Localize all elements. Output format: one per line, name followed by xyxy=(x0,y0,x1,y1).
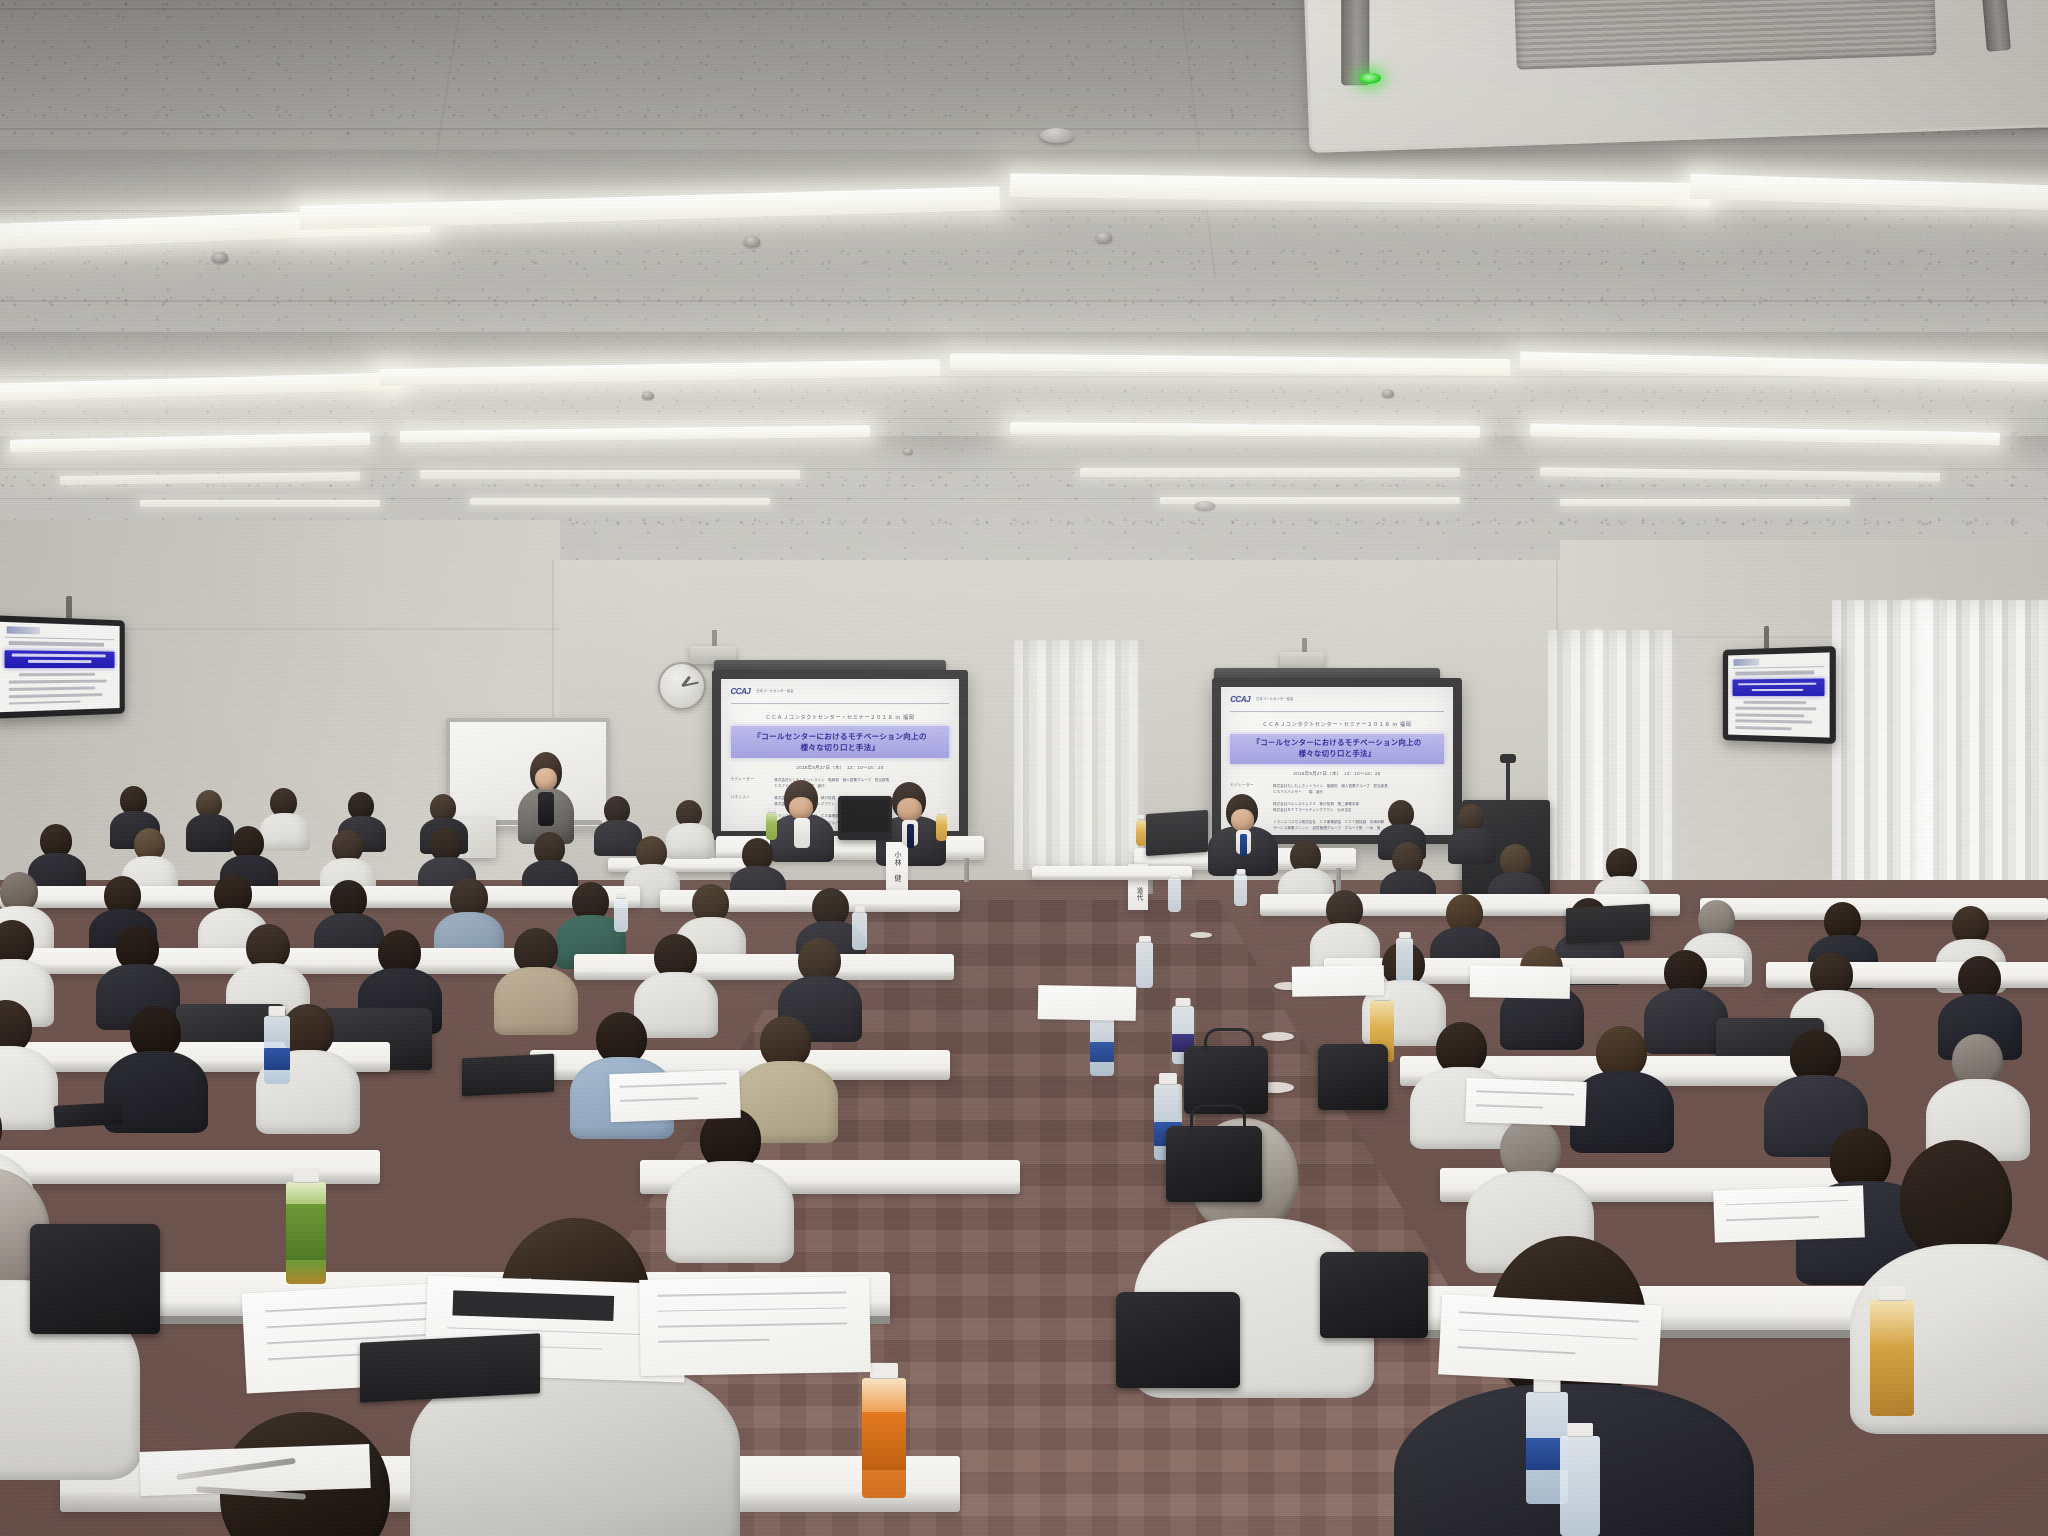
person-face xyxy=(897,798,922,821)
water-bottle xyxy=(852,912,867,950)
mini-slide-title-band xyxy=(5,650,114,668)
wall-clock xyxy=(658,662,706,710)
orange-drink-bottle xyxy=(862,1378,906,1498)
bottle-cap xyxy=(768,807,776,813)
mini-slide-logo xyxy=(6,627,39,635)
mini-slide-row xyxy=(9,686,95,690)
ccaj-logo: CCAJ xyxy=(1230,695,1250,704)
person-torso xyxy=(594,820,642,856)
slide-title: 『コールセンターにおけるモチベーション向上の 様々な切り口と手法』 xyxy=(1230,734,1443,765)
tea-bottle xyxy=(1870,1300,1914,1416)
microphone-head xyxy=(1500,754,1516,763)
left-wall-monitor[interactable] xyxy=(0,615,125,719)
audience-table xyxy=(0,1150,380,1184)
bottle-cap xyxy=(1139,936,1151,943)
mini-slide-row xyxy=(19,673,95,676)
mini-slide-title-line xyxy=(28,660,91,663)
ceiling-light-fixture xyxy=(140,500,380,507)
smartphone xyxy=(53,1102,122,1128)
bag-handle xyxy=(1190,1104,1246,1131)
floor-bag xyxy=(1318,1044,1388,1110)
mini-slide-title-line xyxy=(1738,683,1816,686)
paper-text-line xyxy=(658,1292,847,1297)
slide-subtitle: ＣＣＡＪコンタクトセンター・セミナー２０１８ in 福岡 xyxy=(731,714,950,721)
tea-bottle xyxy=(766,812,777,840)
slide-block-body: 株式会社もしもしホットライン 取締役 個人営業グループ 担当部長 ＣＳアドバイザ… xyxy=(1273,783,1444,796)
slide-title-line-2: 様々な切り口と手法』 xyxy=(734,742,946,753)
handout-paper xyxy=(1713,1185,1865,1242)
paper-text-line xyxy=(1476,1091,1574,1096)
slide-block: モデレーター 株式会社もしもしホットライン 取締役 個人営業グループ 担当部長 … xyxy=(1230,783,1443,796)
handout-paper xyxy=(139,1444,370,1496)
mini-slide xyxy=(0,622,120,712)
floor-marker xyxy=(1190,932,1212,938)
ac-air-vane xyxy=(1979,0,2011,52)
handout-paper xyxy=(639,1276,871,1376)
ccaj-logo-subtext: 日本コールセンター協会 xyxy=(756,690,793,694)
left-wall-monitor-screen xyxy=(0,622,120,712)
audience-table xyxy=(1766,962,2048,988)
slide-block-label: パネリスト xyxy=(731,795,766,800)
presenter-laptop xyxy=(1146,810,1208,856)
handout-paper xyxy=(1038,985,1137,1021)
water-bottle xyxy=(1396,938,1413,982)
floor-bag xyxy=(1166,1126,1262,1202)
paper-text-line xyxy=(1458,1329,1638,1340)
attendee-laptop xyxy=(1566,904,1650,944)
bottle-cap xyxy=(1878,1286,1906,1301)
mini-slide-row xyxy=(1736,713,1804,717)
slide-block-label: モデレーター xyxy=(1230,783,1264,788)
paper-text-line xyxy=(447,1327,660,1336)
person-necktie xyxy=(907,824,914,848)
mini-slide-row xyxy=(9,679,106,683)
water-bottle xyxy=(1136,942,1153,988)
mini-slide-row xyxy=(9,700,81,705)
audience-table xyxy=(1700,898,2048,920)
name-placard-left: 小林 健 xyxy=(886,842,908,892)
sprinkler-head xyxy=(903,448,913,455)
mini-slide-row xyxy=(1736,726,1792,730)
paper-text-line xyxy=(1475,1105,1542,1109)
handout-paper xyxy=(1465,1078,1586,1126)
handout-paper xyxy=(1292,965,1385,997)
slide-title-line-1: 『コールセンターにおけるモチベーション向上の xyxy=(1233,738,1440,749)
person-head xyxy=(1900,1140,2012,1260)
water-bottle xyxy=(264,1016,290,1084)
bottle-cap xyxy=(1138,815,1145,820)
person-shirt xyxy=(794,818,810,848)
mini-slide xyxy=(1728,652,1830,737)
ceiling-projector-right xyxy=(1280,652,1324,669)
bag-handle xyxy=(1204,1028,1254,1051)
person-face xyxy=(1231,809,1254,831)
ceiling-light-fixture xyxy=(420,470,800,479)
slide-title-line-1: 『コールセンターにおけるモチベーション向上の xyxy=(734,731,946,742)
right-wall-monitor[interactable] xyxy=(1723,646,1836,744)
ceiling-grid-line xyxy=(0,300,2048,302)
ceiling-light-fixture xyxy=(1560,499,1850,506)
slide-date: 2018年9月27日（木） 13：10〜16：20 xyxy=(1230,771,1443,777)
mini-slide-title-band xyxy=(1733,679,1824,696)
bottle-label xyxy=(862,1412,906,1470)
smoke-detector xyxy=(1040,128,1074,143)
person-torso xyxy=(1448,828,1496,864)
floor-marker xyxy=(1262,1032,1294,1041)
microphone-stand xyxy=(1506,760,1510,804)
ccaj-logo-subtext: 日本コールセンター協会 xyxy=(1256,698,1293,702)
person-necktie xyxy=(1240,834,1247,856)
audience-table xyxy=(0,886,640,908)
name-placard-left-text: 小林 健 xyxy=(892,851,902,882)
bottle-cap xyxy=(870,1363,898,1379)
paper-text-line xyxy=(621,1098,699,1102)
table-leg xyxy=(964,858,969,882)
water-bottle xyxy=(1234,874,1247,906)
bottle-label xyxy=(286,1204,326,1260)
water-bottle xyxy=(614,898,628,932)
person-inner-top xyxy=(538,792,554,826)
bottle-label xyxy=(1090,1042,1114,1062)
slide-logo-row: CCAJ 日本コールセンター協会 xyxy=(731,687,950,696)
bottle-cap xyxy=(938,809,946,815)
floor-bag xyxy=(1116,1292,1240,1388)
bottle-cap xyxy=(616,893,626,899)
person-torso xyxy=(666,1161,794,1263)
mini-slide-title-line xyxy=(12,654,106,657)
water-bottle xyxy=(1560,1436,1600,1536)
tea-bottle xyxy=(936,814,947,841)
water-bottle xyxy=(1090,1012,1114,1076)
sprinkler-head xyxy=(642,391,654,399)
mini-slide-row xyxy=(1736,707,1817,711)
tea-bottle xyxy=(1136,820,1146,846)
ceiling-light-fixture xyxy=(470,498,770,505)
sprinkler-head xyxy=(1096,232,1112,243)
ccaj-logo: CCAJ xyxy=(731,687,751,696)
person-face xyxy=(535,768,557,790)
bottle-cap xyxy=(1236,869,1245,875)
slide-block-label: モデレーター xyxy=(731,777,766,782)
attendee-laptop xyxy=(462,1054,554,1097)
sprinkler-head xyxy=(1382,389,1394,397)
paper-text-line xyxy=(1726,1199,1849,1205)
slide-subtitle: ＣＣＡＪコンタクトセンター・セミナー２０１８ in 福岡 xyxy=(1230,721,1443,728)
paper-text-line xyxy=(1726,1216,1819,1221)
person-torso xyxy=(494,967,578,1035)
bottle-cap xyxy=(1567,1423,1593,1437)
bottle-cap xyxy=(1176,998,1191,1007)
person-face xyxy=(789,797,813,819)
bottle-cap xyxy=(1159,1073,1177,1085)
mini-slide-rule xyxy=(5,636,114,640)
handout-paper xyxy=(1438,1294,1662,1385)
bottle-cap xyxy=(1170,873,1179,879)
slide-date: 2018年9月27日（木） 13：10〜16：20 xyxy=(731,765,950,771)
handout-paper xyxy=(609,1070,741,1123)
ceiling-cassette-ac xyxy=(1303,0,2048,153)
slide-title-line-2: 様々な切り口と手法』 xyxy=(1233,749,1440,760)
green-tea-bottle xyxy=(286,1182,326,1284)
paper-text-line xyxy=(659,1339,769,1342)
mini-slide-title-line xyxy=(1752,688,1803,690)
person-torso xyxy=(260,813,310,851)
right-wall-monitor-screen xyxy=(1728,652,1830,737)
floor-bag xyxy=(1320,1252,1428,1338)
bottle-cap xyxy=(1399,932,1411,939)
water-bottle xyxy=(1168,878,1181,912)
bottle-cap xyxy=(293,1168,319,1183)
floor-bag xyxy=(30,1224,160,1334)
paper-text-line xyxy=(658,1322,847,1327)
mini-slide-subtitle xyxy=(1736,671,1815,676)
mini-slide-row xyxy=(1736,720,1813,724)
paper-text-line xyxy=(620,1082,727,1087)
ac-grille xyxy=(1513,0,1936,70)
slide-title: 『コールセンターにおけるモチベーション向上の 様々な切り口と手法』 xyxy=(731,726,950,758)
person-torso xyxy=(634,972,718,1038)
person-torso xyxy=(186,814,234,852)
presenter-monitor xyxy=(838,796,892,840)
mini-slide-logo xyxy=(1734,659,1759,666)
paper-photo-block xyxy=(452,1290,614,1321)
paper-text-line xyxy=(1459,1311,1639,1322)
bottle-label xyxy=(264,1048,290,1070)
attendee-laptop xyxy=(360,1333,540,1402)
mini-slide-subtitle xyxy=(9,641,104,647)
slide-logo-row: CCAJ 日本コールセンター協会 xyxy=(1230,695,1443,704)
mini-slide-row xyxy=(1743,701,1806,704)
bottle-cap xyxy=(269,1006,286,1017)
handout-paper xyxy=(1470,965,1571,999)
paper-text-line xyxy=(658,1307,847,1312)
person-torso xyxy=(666,823,714,859)
slide-block-body: 株式会社ベルシステム２４ 執行役員 第二事業本部 株式会社ＮＴＴマーケティングア… xyxy=(1273,801,1444,814)
paper-text-line xyxy=(1457,1346,1576,1354)
seminar-room-photo: CCAJ 日本コールセンター協会 ＣＣＡＪコンタクトセンター・セミナー２０１８ … xyxy=(0,0,2048,1536)
audience-table xyxy=(574,954,954,980)
ac-status-led xyxy=(1359,72,1381,84)
presenter-monitor-screen xyxy=(841,799,889,832)
mini-slide-rule xyxy=(1733,666,1824,669)
ceiling-light-fixture xyxy=(1080,468,1460,477)
smoke-detector xyxy=(1195,501,1215,510)
sprinkler-head xyxy=(212,252,228,263)
window-curtains xyxy=(1014,640,1144,870)
slide-divider xyxy=(731,703,950,704)
bottle-cap xyxy=(855,906,865,913)
slide-divider xyxy=(1230,711,1443,712)
sprinkler-head xyxy=(744,236,760,247)
ceiling-grid-line xyxy=(0,418,2048,419)
mini-slide-row xyxy=(9,693,102,698)
